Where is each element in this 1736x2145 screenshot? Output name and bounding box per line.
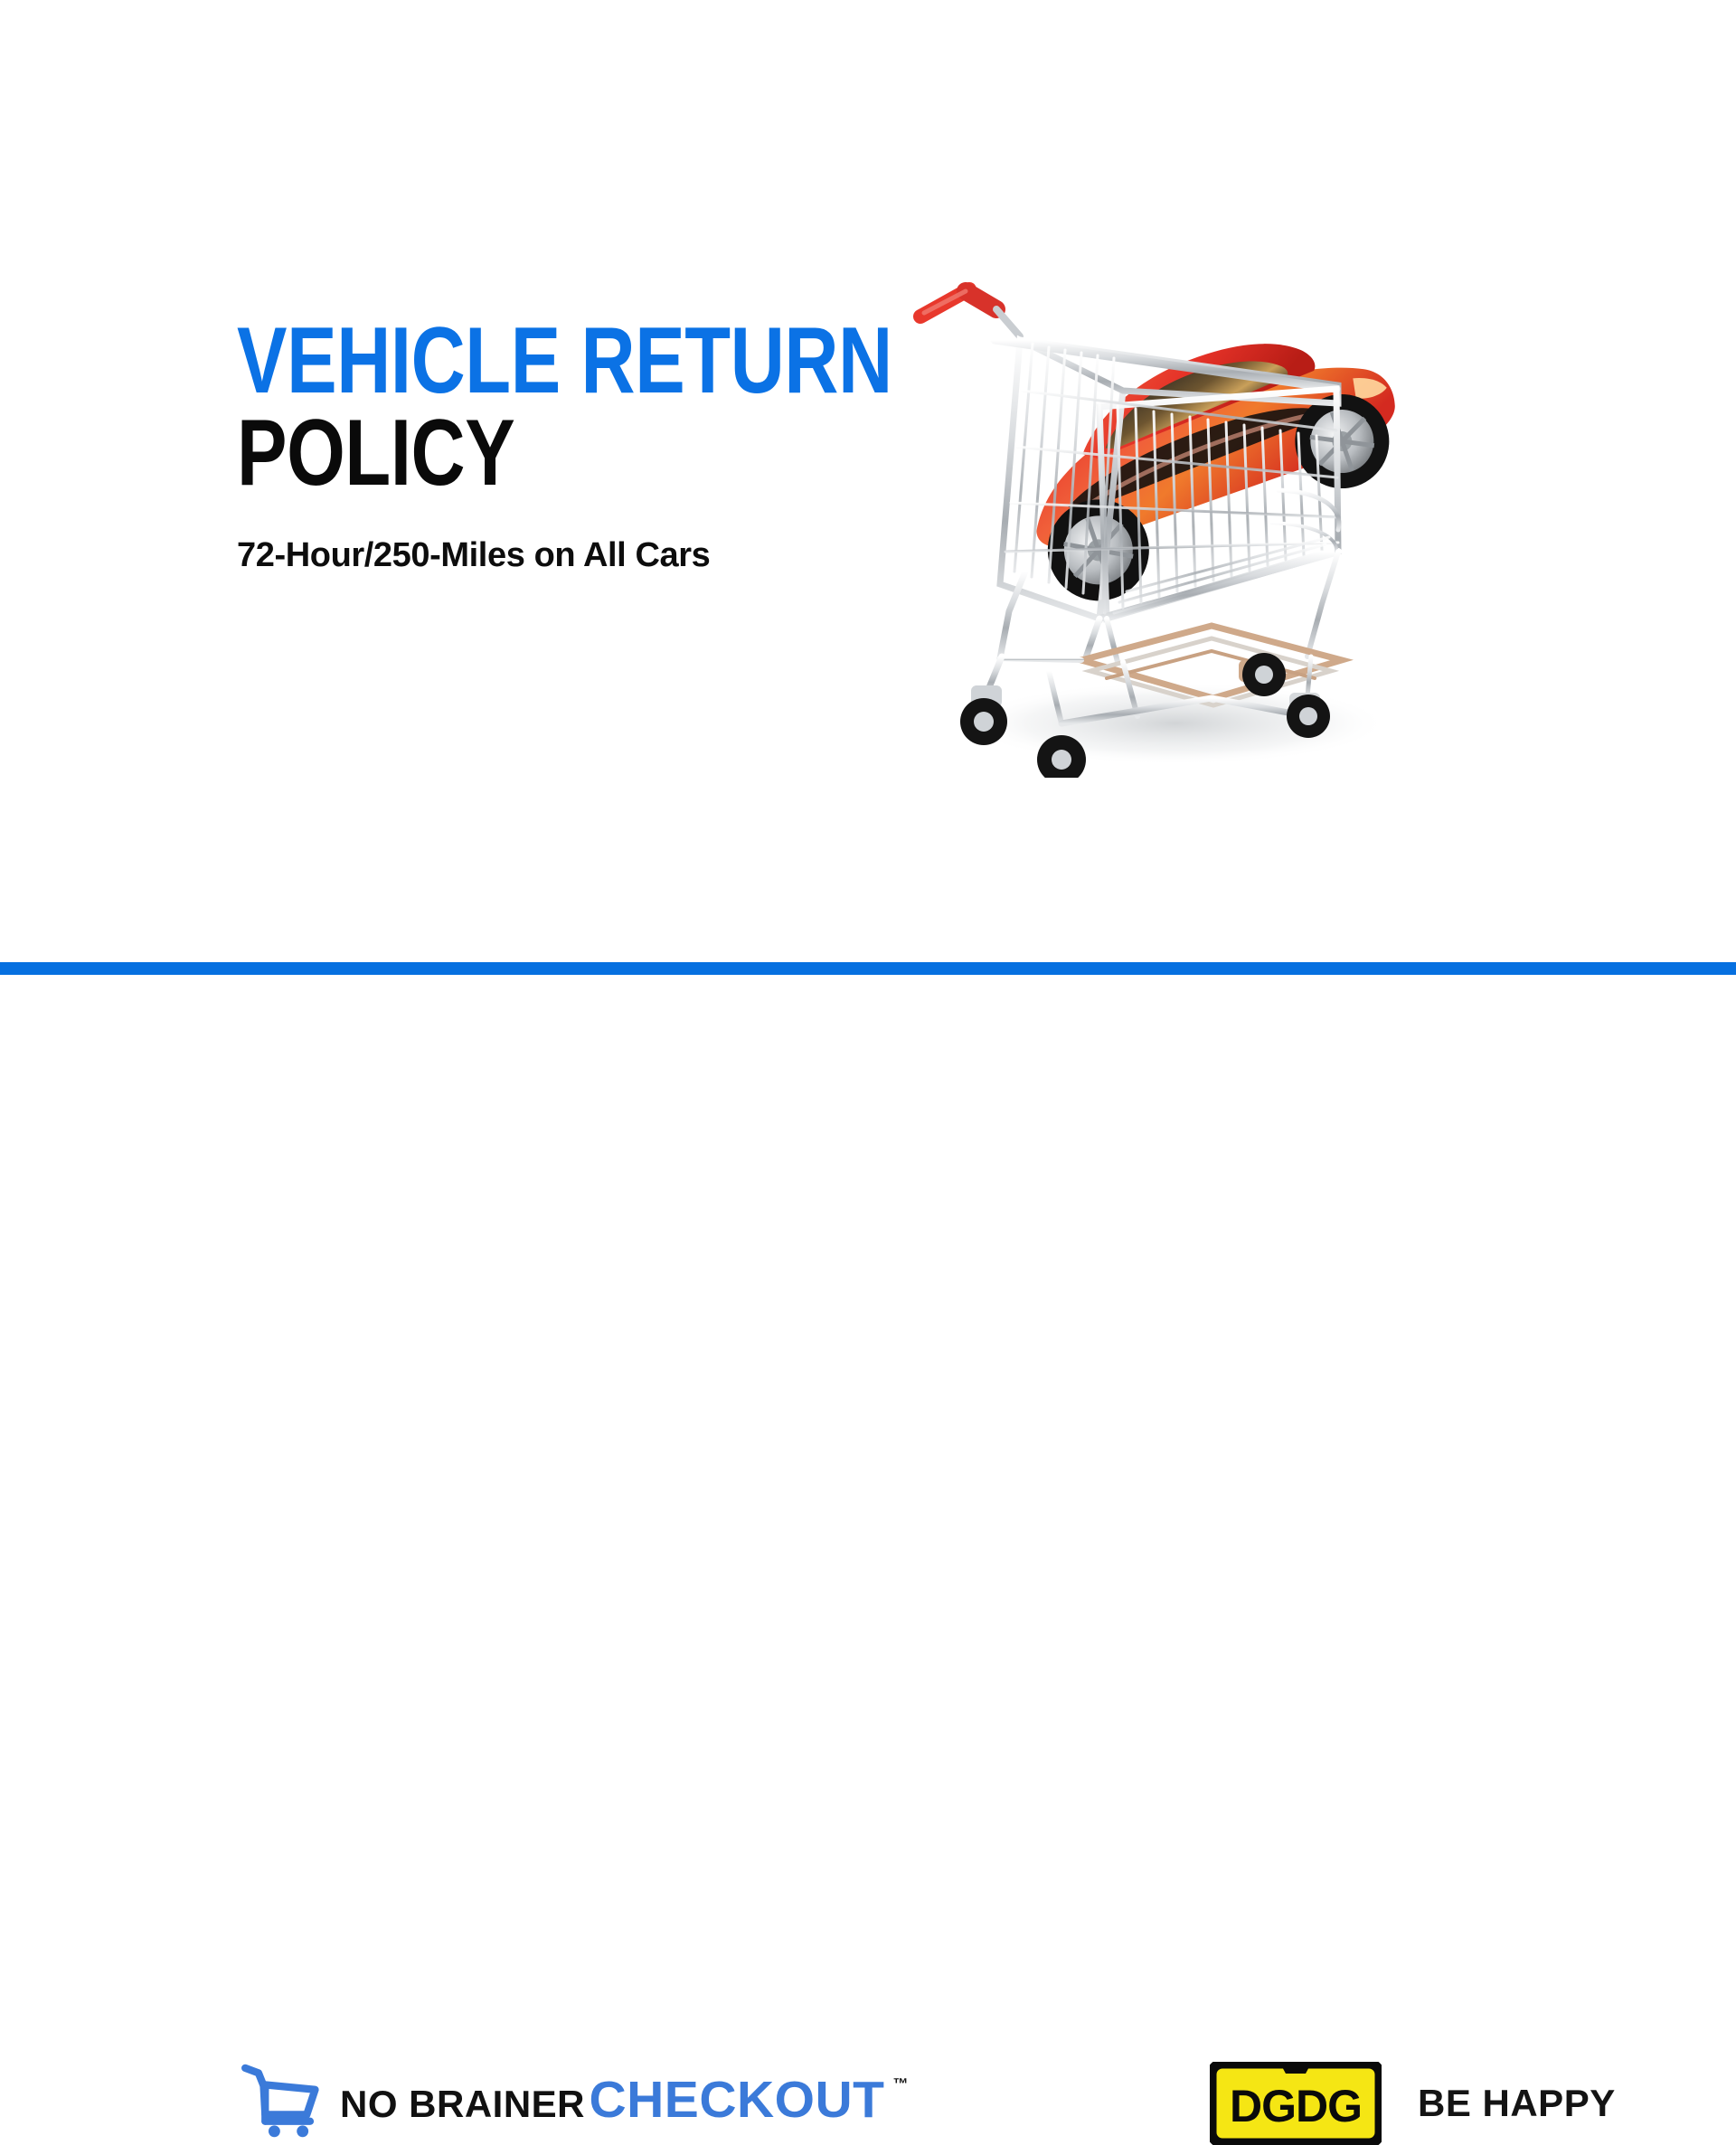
logo-word-checkout: CHECKOUT ™ [589, 2074, 884, 2126]
logo-word-no-brainer: NO BRAINER [340, 2083, 585, 2125]
shopping-cart-icon [237, 2056, 320, 2140]
trademark-symbol: ™ [892, 2076, 908, 2092]
dgdg-badge: DGDG [1210, 2062, 1382, 2145]
slide-canvas: VEHICLE RETURN POLICY 72-Hour/250-Miles … [0, 0, 1736, 1302]
no-brainer-checkout-wordmark: NO BRAINER CHECKOUT ™ [340, 2071, 884, 2126]
headline-line-primary: VEHICLE RETURN [237, 318, 743, 405]
dgdg-tagline: BE HAPPY [1418, 2082, 1616, 2125]
footer-bar: NO BRAINER CHECKOUT ™ DGDG BE HAPPY [0, 975, 1736, 1302]
hero-image-shopping-cart-with-car [913, 253, 1429, 778]
headline-line-secondary: POLICY [237, 411, 743, 497]
logo-word-checkout-text: CHECKOUT [589, 2071, 884, 2129]
dgdg-badge-text: DGDG [1230, 2081, 1362, 2131]
no-brainer-checkout-logo: NO BRAINER CHECKOUT ™ [237, 2056, 884, 2140]
subheadline: 72-Hour/250-Miles on All Cars [237, 536, 870, 575]
blue-divider-bar [0, 962, 1736, 975]
headline-block: VEHICLE RETURN POLICY 72-Hour/250-Miles … [237, 318, 870, 575]
dgdg-logo-group: DGDG BE HAPPY [1210, 2062, 1616, 2145]
